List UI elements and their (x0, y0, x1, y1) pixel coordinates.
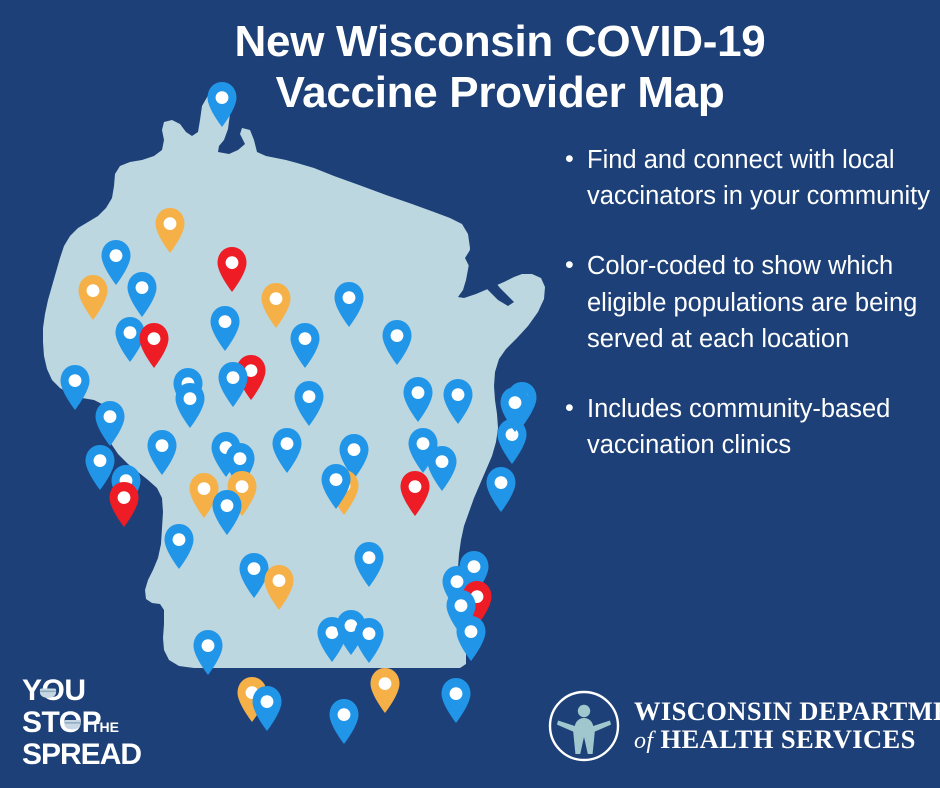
bullet-marker-icon: • (565, 142, 587, 214)
list-item: • Find and connect with local vaccinator… (565, 142, 933, 214)
wisconsin-dhs-logo: WISCONSIN DEPARTMENT of HEALTH SERVICES (548, 686, 928, 766)
wisconsin-provider-map[interactable] (14, 84, 559, 674)
list-item: • Includes community-based vaccination c… (565, 391, 933, 463)
dhs-health-services: HEALTH SERVICES (661, 724, 916, 754)
poster-canvas: New Wisconsin COVID-19 Vaccine Provider … (0, 0, 940, 788)
map-pin-orange[interactable] (371, 668, 400, 713)
map-pin-blue[interactable] (330, 699, 359, 744)
feature-bullet-list: • Find and connect with local vaccinator… (565, 142, 933, 497)
bullet-text: Find and connect with local vaccinators … (587, 142, 933, 214)
title-line-2: Vaccine Provider Map (170, 67, 830, 118)
logo-line-stop: STOP (22, 706, 101, 739)
list-item: • Color-coded to show which eligible pop… (565, 248, 933, 357)
map-pin-blue[interactable] (86, 445, 115, 490)
dhs-of-word: of (634, 728, 653, 754)
logo-line-spread: SPREAD (22, 738, 141, 771)
title-line-1: New Wisconsin COVID-19 (170, 16, 830, 67)
map-pin-blue[interactable] (194, 630, 223, 675)
map-pin-blue[interactable] (61, 365, 90, 410)
logo-line-the: THE (91, 719, 119, 735)
bullet-text: Includes community-based vaccination cli… (587, 391, 933, 463)
bullet-marker-icon: • (565, 391, 587, 463)
dhs-seal-icon (548, 690, 620, 762)
map-pin-blue[interactable] (253, 686, 282, 731)
dhs-line-2: of HEALTH SERVICES (634, 725, 940, 754)
bullet-marker-icon: • (565, 248, 587, 357)
bullet-text: Color-coded to show which eligible popul… (587, 248, 933, 357)
dhs-line-1: WISCONSIN DEPARTMENT (634, 697, 940, 725)
page-title: New Wisconsin COVID-19 Vaccine Provider … (170, 16, 830, 118)
dhs-wordmark: WISCONSIN DEPARTMENT of HEALTH SERVICES (634, 697, 940, 755)
you-stop-the-spread-logo: YOU STOP THE SPREAD (22, 676, 172, 772)
map-pin-blue[interactable] (442, 678, 471, 723)
map-pin-red[interactable] (110, 482, 139, 527)
map-pin-blue[interactable] (487, 467, 516, 512)
